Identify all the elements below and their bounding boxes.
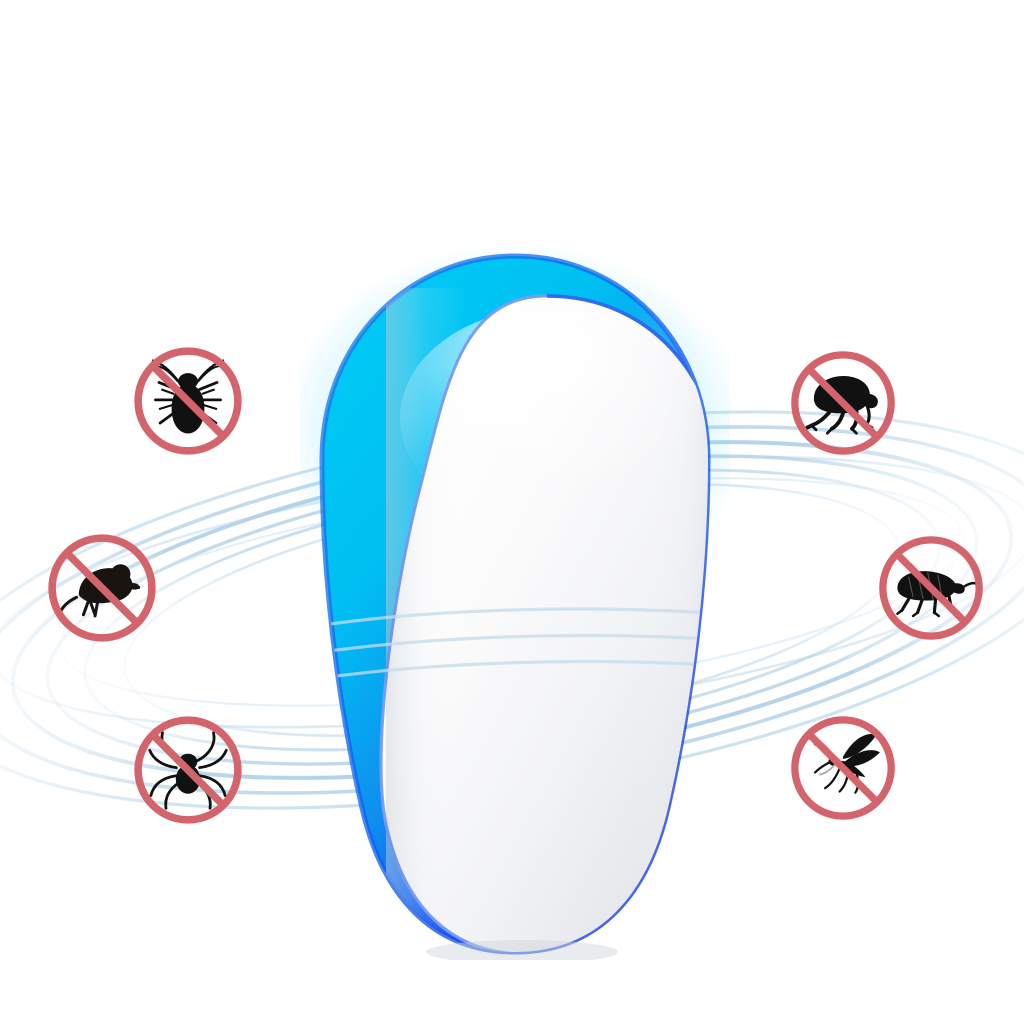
- device-shadow: [426, 940, 618, 960]
- no-spider-icon: [72, 712, 304, 833]
- pest-badge-flea[interactable]: [730, 347, 956, 472]
- no-bedbug-icon: [818, 532, 1024, 649]
- infographic-canvas: [0, 0, 1024, 1024]
- page-subtitle: [51, 28, 973, 42]
- no-mosquito-icon: [730, 712, 956, 829]
- header: [0, 0, 1024, 42]
- no-flea-icon: [730, 347, 956, 464]
- pest-badge-mosquito[interactable]: [730, 712, 956, 837]
- pest-badge-cockroach[interactable]: [72, 343, 304, 472]
- mosquito-silhouette: [814, 734, 880, 793]
- no-mice-icon: [0, 530, 218, 651]
- device-white-body: [381, 288, 730, 960]
- no-cockroach-icon: [72, 343, 304, 464]
- page-title: [72, 0, 953, 28]
- pest-badge-mice[interactable]: [0, 530, 218, 659]
- pest-badge-bedbug[interactable]: [818, 532, 1024, 657]
- ultrasonic-repeller-device: [300, 248, 730, 960]
- pest-badge-spider[interactable]: [72, 712, 304, 841]
